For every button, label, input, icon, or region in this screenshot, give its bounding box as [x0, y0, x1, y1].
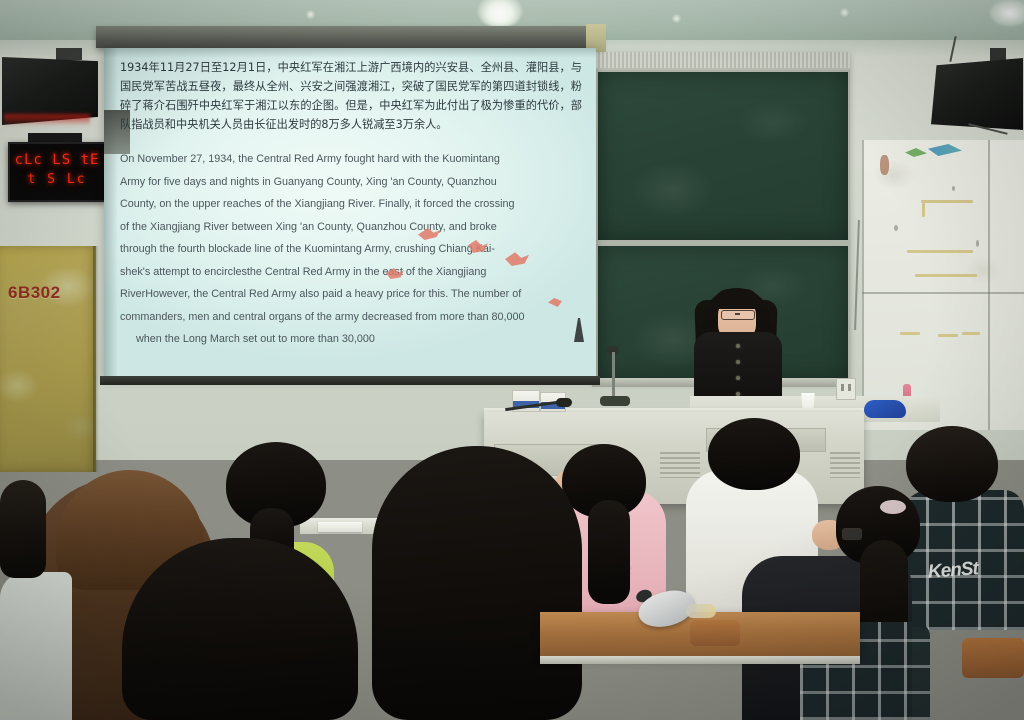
- slide-english-line: County, on the upper reaches of the Xian…: [120, 193, 582, 216]
- ceiling-fixture-dot: [672, 14, 681, 23]
- slide-english-line: Army for five days and nights in Guanyan…: [120, 171, 582, 194]
- led-clock-line-1: cLc LS tE: [10, 152, 104, 168]
- blue-cloth-bag: [864, 400, 906, 418]
- projected-slide: 1934年11月27日至12月1日，中央红军在湘江上游广西境内的兴安县、全州县、…: [120, 58, 582, 370]
- ceiling-fixture-dot: [306, 10, 315, 19]
- coat-button: [736, 344, 740, 348]
- plush-keychain-chain: [686, 604, 716, 618]
- projection-screen-bottom-bar: [100, 376, 600, 385]
- podium-vent: [830, 452, 860, 478]
- desk-rail: [540, 656, 860, 664]
- chalkboard-panel-upper: [596, 70, 850, 242]
- notebook: [318, 522, 362, 532]
- student-chair: [962, 638, 1024, 678]
- slide-english-line: of the Xiangjiang River between Xing 'an…: [120, 216, 582, 239]
- student-hair-foreground-right: [372, 446, 582, 720]
- student-head-center-right: [708, 418, 800, 490]
- student-shoulder-left-edge: [0, 572, 72, 720]
- led-clock-line-2: t S Lc: [10, 172, 104, 187]
- wall-rust-stain: [880, 155, 889, 175]
- student-glasses: [842, 528, 862, 540]
- wall-seam: [862, 140, 864, 430]
- coat-button: [736, 360, 740, 364]
- ceiling-light-secondary: [990, 0, 1024, 26]
- student-head-far-right: [906, 426, 998, 502]
- screen-left-shadow: [104, 48, 118, 378]
- left-pillar: [0, 246, 96, 472]
- speaker-right: [931, 58, 1023, 130]
- ceiling-fixture-dot: [840, 8, 849, 17]
- power-outlet: [836, 378, 856, 400]
- screen-top-shadow: [104, 48, 596, 58]
- student-ponytail-pink: [588, 500, 630, 604]
- tape-residue: [962, 332, 980, 335]
- speaker-bracket-left: [56, 48, 82, 60]
- wall-blemish: [976, 240, 979, 247]
- wall-blemish: [952, 186, 955, 191]
- student-head-left-edge: [0, 480, 46, 578]
- tape-residue: [921, 200, 973, 203]
- presenter-glasses: [721, 310, 755, 320]
- microphone-stem: [612, 352, 615, 398]
- wall-seam: [862, 292, 1024, 294]
- pillar-edge-shadow: [93, 246, 99, 472]
- console-microphone-head: [556, 398, 572, 407]
- slide-english-line: commanders, men and central organs of th…: [120, 306, 582, 329]
- tape-residue: [900, 332, 920, 335]
- wall-blemish: [894, 225, 898, 231]
- speaker-left-glow: [4, 114, 90, 126]
- presenter-fringe: [714, 289, 760, 309]
- classroom-photograph: 6B302 cLc LS tE t S Lc Huawei 1934年11月27…: [0, 0, 1024, 720]
- slide-english-line: On November 27, 1934, the Central Red Ar…: [120, 148, 582, 171]
- led-clock: cLc LS tE t S Lc: [8, 142, 106, 202]
- tape-residue: [938, 334, 958, 337]
- slide-english-block: On November 27, 1934, the Central Red Ar…: [120, 148, 582, 351]
- tape-residue: [922, 203, 925, 217]
- student-chair: [690, 620, 740, 646]
- tape-residue: [915, 274, 977, 277]
- coat-button: [736, 376, 740, 380]
- tape-residue: [907, 250, 973, 253]
- projector-screen-valance: Huawei: [96, 26, 602, 48]
- presenter-glasses-bridge: [735, 313, 740, 315]
- slide-chinese-paragraph: 1934年11月27日至12月1日，中央红军在湘江上游广西境内的兴安县、全州县、…: [120, 58, 582, 134]
- hair-tie: [880, 500, 906, 514]
- microphone-base: [600, 396, 630, 406]
- slide-english-line: when the Long March set out to more than…: [120, 328, 582, 351]
- slide-english-line: RiverHowever, the Central Red Army also …: [120, 283, 582, 306]
- podium-vent: [660, 452, 700, 478]
- chalkboard-top-rail: [592, 52, 850, 68]
- plaid-shirt-text: KenSt: [927, 558, 978, 583]
- room-number-sign: 6B302: [8, 283, 61, 303]
- wall-seam: [988, 140, 990, 430]
- right-wall-weathered: [862, 140, 1024, 430]
